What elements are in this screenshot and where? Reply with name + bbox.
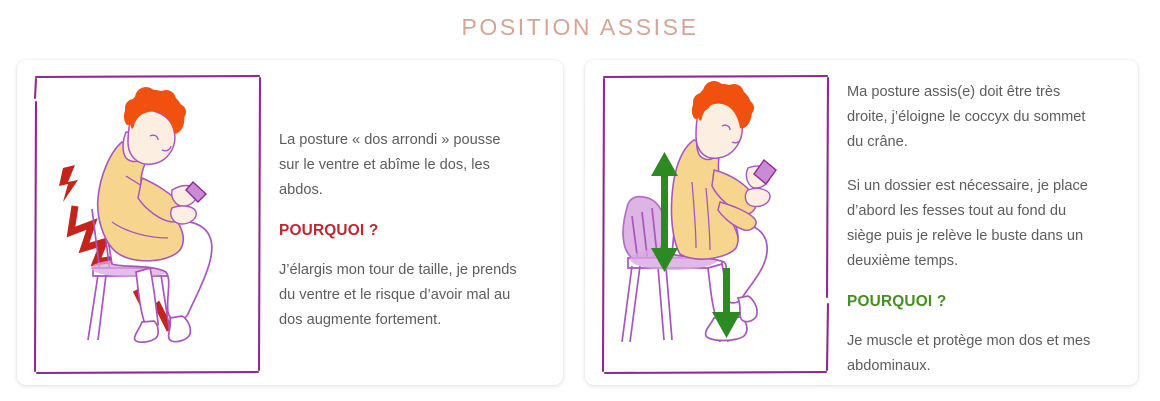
card-bad-posture: La posture « dos arrondi » pousse sur le… xyxy=(17,60,563,385)
cards-container: La posture « dos arrondi » pousse sur le… xyxy=(0,60,1160,385)
paragraph-explanation: Je muscle et protège mon dos et mes abdo… xyxy=(847,329,1096,379)
paragraph-explanation: J’élargis mon tour de taille, je prends … xyxy=(279,258,523,333)
illustration-slouched-sitting-wrap xyxy=(17,60,265,377)
text-column-good-posture: Ma posture assis(e) doit être très droit… xyxy=(833,60,1118,379)
why-heading: POURQUOI ? xyxy=(847,293,1096,311)
hands-phone-shape xyxy=(171,182,206,224)
paragraph-intro: Ma posture assis(e) doit être très droit… xyxy=(847,80,1096,155)
paragraph-intro: La posture « dos arrondi » pousse sur le… xyxy=(279,128,523,203)
why-heading: POURQUOI ? xyxy=(279,222,523,240)
upright-sitting-illustration xyxy=(598,72,833,377)
paragraph-secondary: Si un dossier est nécessaire, je place d… xyxy=(847,174,1096,274)
card-good-posture: Ma posture assis(e) doit être très droit… xyxy=(585,60,1138,385)
slouched-sitting-illustration xyxy=(30,72,265,377)
hands-phone-shape xyxy=(745,160,776,207)
illustration-upright-sitting-wrap xyxy=(585,60,833,377)
pain-zigzag-upper-icon xyxy=(59,165,78,202)
page-title: POSITION ASSISE xyxy=(0,0,1160,40)
text-column-bad-posture: La posture « dos arrondi » pousse sur le… xyxy=(265,60,545,333)
